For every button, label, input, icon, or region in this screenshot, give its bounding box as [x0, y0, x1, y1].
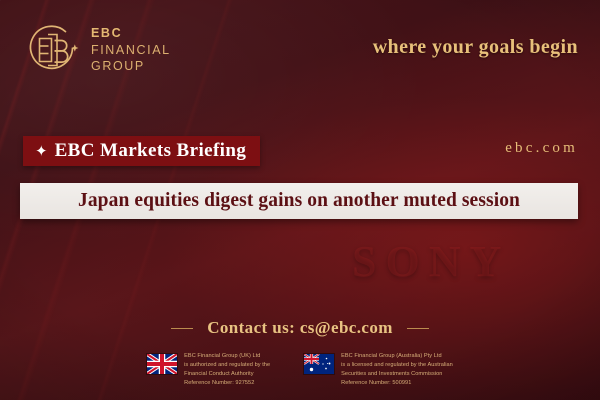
licence-line: Securities and Investments Commission — [341, 370, 453, 379]
brand-name-line-1: EBC — [91, 25, 171, 42]
brand-logo: EBC FINANCIAL GROUP — [26, 22, 171, 78]
licence-line: EBC Financial Group (UK) Ltd — [184, 352, 270, 361]
licence-line: is a licensed and regulated by the Austr… — [341, 361, 453, 370]
licence-block-australia: EBC Financial Group (Australia) Pty Ltd … — [304, 352, 453, 394]
australia-flag-icon — [304, 354, 334, 374]
brand-tagline: where your goals begin — [373, 36, 578, 59]
background-sony-watermark: SONY — [352, 236, 510, 287]
licence-line: Reference Number: 500991 — [341, 379, 453, 388]
licence-text-uk: EBC Financial Group (UK) Ltd is authoriz… — [184, 352, 270, 388]
uk-flag-icon — [147, 354, 177, 374]
licence-line: Reference Number: 927552 — [184, 379, 270, 388]
licence-text-australia: EBC Financial Group (Australia) Pty Ltd … — [341, 352, 453, 388]
contact-rule-left — [171, 328, 193, 329]
contact-rule-right — [407, 328, 429, 329]
website-link[interactable]: ebc.com — [505, 140, 578, 157]
briefing-label: EBC Markets Briefing — [55, 140, 247, 162]
licence-line: EBC Financial Group (Australia) Pty Ltd — [341, 352, 453, 361]
four-point-star-icon: ✦ — [35, 144, 48, 159]
poster-header: EBC FINANCIAL GROUP where your goals beg… — [0, 0, 600, 100]
headline-text: Japan equities digest gains on another m… — [78, 190, 520, 212]
headline-bar: Japan equities digest gains on another m… — [20, 183, 578, 219]
licence-line: Financial Conduct Authority — [184, 370, 270, 379]
brand-wordmark: EBC FINANCIAL GROUP — [91, 25, 171, 75]
brand-name-line-2: FINANCIAL — [91, 42, 171, 59]
licence-footer: EBC Financial Group (UK) Ltd is authoriz… — [0, 352, 600, 394]
brand-name-line-3: GROUP — [91, 58, 171, 75]
briefing-badge: ✦ EBC Markets Briefing — [23, 136, 260, 166]
contact-text[interactable]: Contact us: cs@ebc.com — [207, 318, 393, 338]
ebc-circular-monogram-icon — [26, 22, 82, 78]
marketing-poster: SONY EBC FINANCIAL GROUP — [0, 0, 600, 400]
licence-block-uk: EBC Financial Group (UK) Ltd is authoriz… — [147, 352, 270, 394]
contact-row: Contact us: cs@ebc.com — [0, 318, 600, 338]
licence-line: is authorized and regulated by the — [184, 361, 270, 370]
